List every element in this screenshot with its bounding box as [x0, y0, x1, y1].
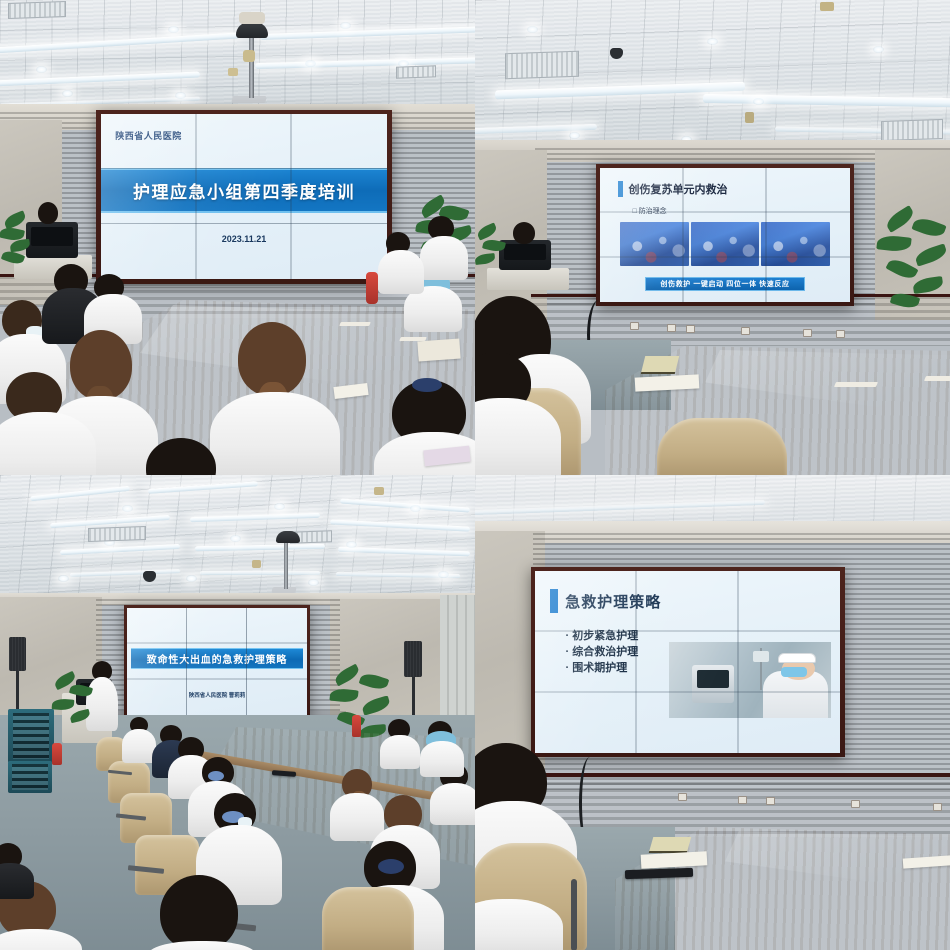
slide-footer: 陕西省人民医院 曹莉莉 [127, 691, 307, 699]
plant-left [0, 206, 42, 276]
slide-bullet-list: 初步紧急护理 综合救治护理 围术期护理 [566, 627, 639, 675]
list-item: 初步紧急护理 [566, 627, 639, 643]
slide-photo [620, 222, 689, 266]
wall-outlet [741, 327, 750, 335]
table-mic-slot-2 [924, 376, 950, 381]
video-wall-screen-trauma-slide: 创伤复苏单元内救治 防治理念 创伤救护 一键启动 四位一体 快速反应 [600, 168, 850, 302]
panel-bottom-right: 急救护理策略 初步紧急护理 综合救治护理 围术期护理 [475, 475, 950, 950]
slide-title: 护理应急小组第四季度培训 [133, 178, 355, 203]
slide-trauma-resuscitation: 创伤复苏单元内救治 防治理念 创伤救护 一键启动 四位一体 快速反应 [600, 168, 850, 302]
desk-paper-2 [417, 339, 460, 362]
equipment-rack-2 [8, 761, 52, 793]
wall-outlet [803, 329, 812, 337]
chair [657, 418, 787, 475]
attendee [122, 717, 156, 759]
slide-heading: 创伤复苏单元内救治 [629, 181, 728, 197]
slide-title-band: 致命性大出血的急救护理策略 [131, 648, 304, 669]
attendee [0, 372, 90, 475]
plant-left [475, 222, 509, 280]
ceiling [475, 0, 950, 148]
ceiling [475, 475, 950, 527]
slide-photo-nurse-at-monitor [669, 642, 831, 718]
slide-bullet: 防治理念 [633, 206, 667, 216]
slide-heading: 急救护理策略 [565, 591, 661, 612]
wall-outlet [686, 325, 695, 333]
heading-accent-bar [550, 589, 558, 613]
speaker-right [404, 641, 422, 677]
slide-organization: 陕西省人民医院 [115, 129, 182, 142]
water-bottle [366, 272, 378, 304]
ceiling [0, 475, 475, 599]
water-bottle [352, 715, 361, 737]
slide-heading-row: 创伤复苏单元内救治 [618, 181, 728, 197]
attendee [475, 889, 563, 950]
chair [322, 887, 414, 950]
wall-outlet [851, 800, 860, 808]
slide-title-band: 护理应急小组第四季度培训 [101, 168, 387, 213]
table-mic-slot [339, 322, 371, 326]
ceiling [0, 0, 475, 112]
notebook [641, 356, 679, 374]
slide-emergency-nursing-strategy: 急救护理策略 初步紧急护理 综合救治护理 围术期护理 [535, 571, 840, 753]
list-item: 围术期护理 [566, 659, 639, 675]
attendee [86, 274, 138, 336]
attendee [420, 721, 462, 769]
presenter [507, 222, 541, 252]
wall-outlet [738, 796, 747, 804]
wall-outlet [630, 322, 639, 330]
panel-top-left: 陕西省人民医院 护理应急小组第四季度培训 2023.11.21 [0, 0, 475, 475]
attendee [380, 719, 418, 763]
slide-date: 2023.11.21 [101, 234, 387, 244]
speaker-left [9, 637, 26, 671]
equipment-rack [8, 709, 54, 763]
wall-outlet [933, 803, 942, 811]
wall-outlet [667, 324, 676, 332]
notebook [649, 837, 692, 853]
list-item: 综合救治护理 [566, 643, 639, 659]
slide-heading-row: 急救护理策略 [550, 589, 661, 613]
heading-accent-bar [618, 181, 623, 197]
attendee [142, 875, 252, 950]
video-wall-screen-title-slide: 陕西省人民医院 护理应急小组第四季度培训 2023.11.21 [101, 114, 387, 279]
panel-top-right: 创伤复苏单元内救治 防治理念 创伤救护 一键启动 四位一体 快速反应 [475, 0, 950, 475]
slide-title-q4-training: 陕西省人民医院 护理应急小组第四季度培训 2023.11.21 [101, 114, 387, 279]
panel-bottom-left: 致命性大出血的急救护理策略 陕西省人民医院 曹莉莉 [0, 475, 475, 950]
table-mic-slot [834, 382, 878, 387]
attendee [418, 216, 468, 276]
video-wall-screen-hemorrhage-slide: 致命性大出血的急救护理策略 陕西省人民医院 曹莉莉 [127, 608, 307, 715]
plant-left [52, 671, 94, 739]
slide-photo [761, 222, 830, 266]
plant-right [875, 210, 950, 340]
slide-massive-hemorrhage: 致命性大出血的急救护理策略 陕西省人民医院 曹莉莉 [127, 608, 307, 715]
slide-photo [691, 222, 760, 266]
attendee [378, 232, 424, 288]
attendee [128, 438, 238, 475]
slide-photo-strip [620, 222, 830, 266]
wall-outlet [678, 793, 687, 801]
fire-extinguisher [52, 743, 62, 765]
wall-outlet [766, 797, 775, 805]
photo-collage: 陕西省人民医院 护理应急小组第四季度培训 2023.11.21 [0, 0, 950, 950]
attendee [475, 352, 569, 475]
slide-banner: 创伤救护 一键启动 四位一体 快速反应 [645, 277, 805, 292]
video-wall-screen-strategy-slide: 急救护理策略 初步紧急护理 综合救治护理 围术期护理 [535, 571, 840, 753]
wall-outlet [836, 330, 845, 338]
vertical-blinds [440, 595, 475, 735]
attendee [0, 843, 34, 893]
slide-title: 致命性大出血的急救护理策略 [147, 651, 287, 666]
